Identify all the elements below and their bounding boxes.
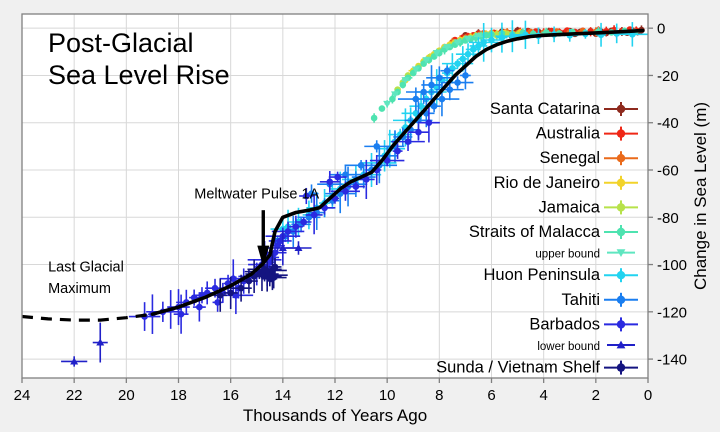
legend-label: lower bound [537,341,600,353]
x-axis-tick-label: 20 [118,387,135,404]
data-marker-circle [358,162,365,169]
x-axis-tick-label: 6 [487,387,495,404]
data-marker-circle [428,82,435,89]
data-marker-circle [334,174,341,181]
data-marker-circle [444,67,451,74]
data-marker-circle [617,363,625,371]
x-axis-tick-label: 0 [644,387,652,404]
data-marker-circle [293,223,300,230]
data-marker-circle [285,228,292,235]
data-marker-circle [311,212,318,219]
data-marker-circle [426,119,433,126]
data-marker-circle [439,96,446,103]
y-axis-tick-label: 0 [657,21,665,38]
x-axis-tick-label: 12 [327,387,344,404]
data-marker-circle [196,304,203,311]
data-marker-circle [617,271,625,279]
data-marker-circle [415,129,422,136]
legend-label: Tahiti [561,291,600,309]
x-axis-tick-label: 22 [66,387,83,404]
x-axis-tick-label: 14 [274,387,291,404]
x-axis-tick-label: 4 [539,387,547,404]
data-marker-circle [454,60,461,67]
data-marker-circle [379,105,386,112]
data-marker-circle [272,264,279,271]
data-marker-circle [446,86,453,93]
x-axis-tick-label: 18 [170,387,187,404]
chart-title-line-1: Post-Glacial [48,28,194,58]
data-marker-circle [353,183,360,190]
data-marker-circle [617,296,625,304]
annotation-last-glacial-maximum-line2: Maximum [48,281,111,297]
y-axis-tick-label: -20 [657,68,679,85]
data-marker-circle [326,179,333,186]
y-axis-tick-label: -80 [657,210,679,227]
data-marker-circle [394,148,401,155]
legend-label: Huon Peninsula [484,266,601,284]
data-marker-circle [617,320,625,328]
legend-label: Senegal [539,149,600,167]
legend-label: Jamaica [539,198,601,216]
data-marker-circle [488,37,495,44]
data-marker-circle [405,138,412,145]
x-axis-tick-label: 8 [435,387,443,404]
y-axis-tick-label: -40 [657,115,679,132]
y-axis-tick-label: -100 [657,257,687,274]
data-marker-circle [413,96,420,103]
x-axis-tick-label: 24 [14,387,31,404]
data-marker-circle [617,228,625,236]
legend-label: Barbados [529,315,600,333]
annotation-meltwater-pulse: Meltwater Pulse 1A [194,186,319,202]
legend-label: Straits of Malacca [469,223,601,241]
data-marker-circle [420,89,427,96]
data-marker-circle [300,219,307,226]
data-marker-circle [617,179,625,187]
data-marker-circle [373,143,380,150]
chart-svg: 2422201816141210864200-20-40-60-80-100-1… [0,0,720,432]
legend-label: Sunda / Vietnam Shelf [436,359,600,377]
data-marker-circle [227,290,234,297]
data-marker-circle [178,311,185,318]
data-marker-circle [436,75,443,82]
sea-level-figure: 2422201816141210864200-20-40-60-80-100-1… [0,0,720,432]
data-marker-circle [617,129,625,137]
data-marker-circle [460,56,467,63]
data-marker-circle [238,285,245,292]
x-axis-label: Thousands of Years Ago [243,406,427,425]
data-marker-circle [465,51,472,58]
data-marker-circle [462,72,469,79]
data-marker-circle [617,203,625,211]
legend-label: upper bound [535,249,600,261]
data-marker-circle [371,115,378,122]
data-marker-circle [499,34,506,41]
x-axis-tick-label: 10 [379,387,396,404]
y-axis-tick-label: -120 [657,304,687,321]
y-axis-label: Change in Sea Level (m) [691,102,710,290]
legend-label: Rio de Janeiro [494,174,600,192]
data-marker-circle [454,79,461,86]
data-marker-circle [270,274,277,281]
y-axis-tick-label: -140 [657,352,687,369]
chart-title-line-2: Sea Level Rise [48,60,230,90]
legend-item-barbados[interactable]: Barbados [529,315,638,333]
data-marker-circle [617,154,625,162]
data-marker-circle [617,105,625,113]
x-axis-tick-label: 16 [222,387,239,404]
legend-label: Santa Catarina [490,100,601,118]
x-axis-tick-label: 2 [592,387,600,404]
y-axis-tick-label: -60 [657,163,679,180]
annotation-last-glacial-maximum-line1: Last Glacial [48,260,124,276]
legend-label: Australia [536,125,601,143]
